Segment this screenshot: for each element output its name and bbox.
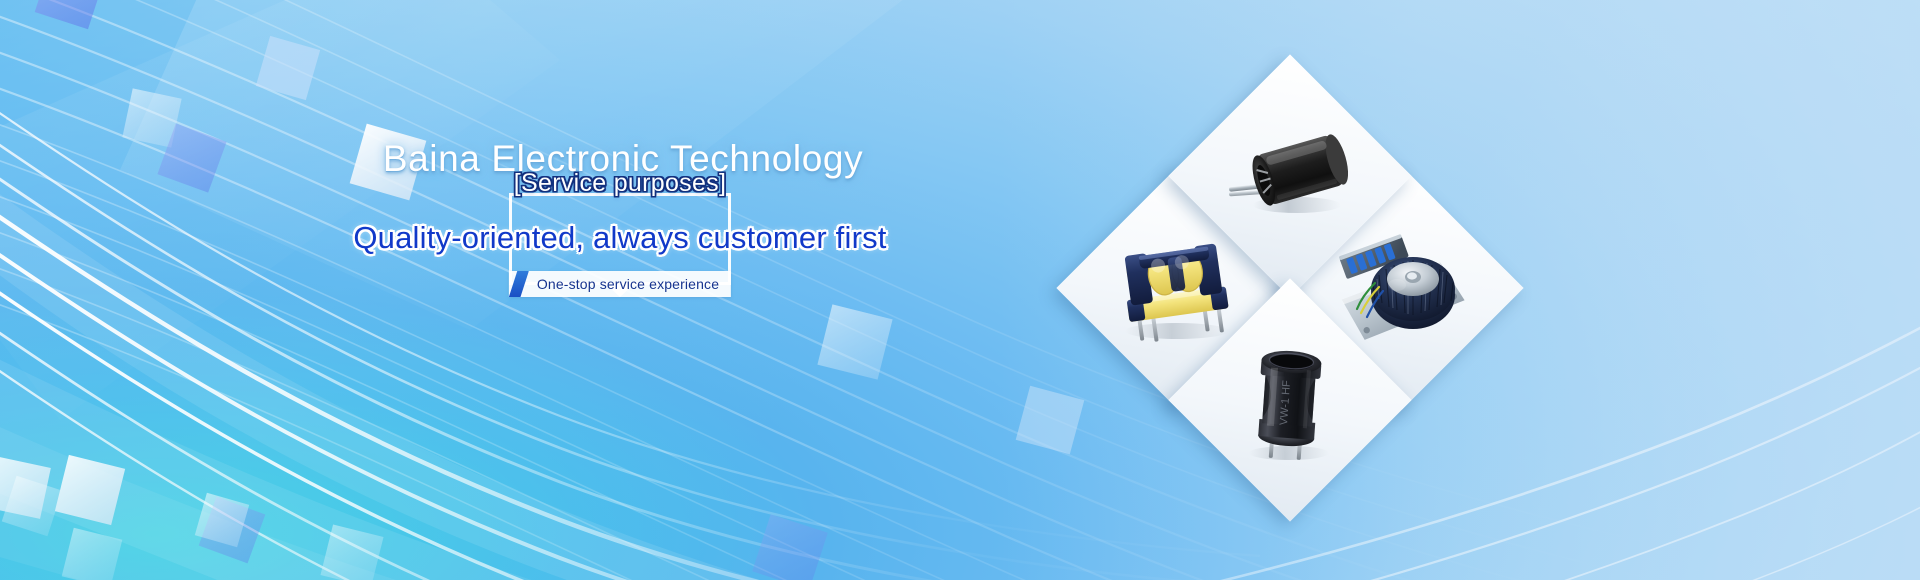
drum-core-inductor-icon: VW-1 HF: [1215, 325, 1365, 475]
slogan-text: Quality-oriented, always customer first: [353, 220, 886, 256]
badge-accent-slash-icon: [509, 271, 529, 297]
badge-label: One-stop service experience: [537, 276, 719, 292]
hero-banner: Baina Electronic Technology [Service pur…: [0, 0, 1920, 580]
axial-ferrite-inductor-icon: [1215, 101, 1365, 251]
background-right-fade: [0, 0, 1920, 580]
banner-text-block: Baina Electronic Technology [Service pur…: [330, 140, 910, 285]
service-purposes-label: [Service purposes]: [514, 169, 726, 198]
product-diamond-cluster: VW-1 HF: [1088, 86, 1492, 490]
service-purposes-frame: [Service purposes] Quality-oriented, alw…: [509, 193, 731, 285]
one-stop-service-badge: One-stop service experience: [509, 271, 731, 297]
